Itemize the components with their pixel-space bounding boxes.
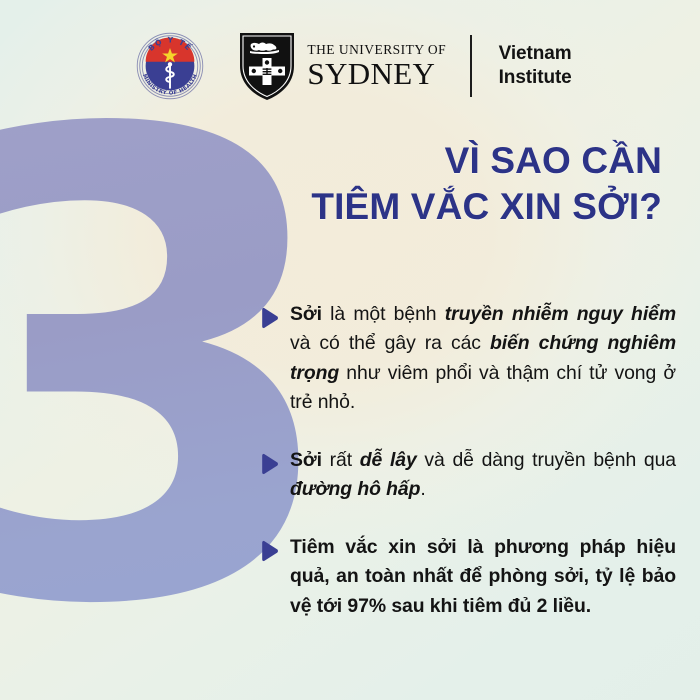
triangle-bullet-icon xyxy=(258,453,280,475)
usyd-line-2: SYDNEY xyxy=(307,58,446,89)
usyd-line-1: THE UNIVERSITY OF xyxy=(307,43,446,57)
triangle-bullet-icon xyxy=(258,307,280,329)
triangle-bullet-icon xyxy=(258,540,280,562)
vietnam-institute-wordmark: Vietnam Institute xyxy=(499,42,572,90)
logo-bar: BỘ Y TẾ MINISTRY OF HEALTH xyxy=(0,20,700,112)
bullet-text: Tiêm vắc xin sởi là phương pháp hiệu quả… xyxy=(290,533,676,621)
bullet-item: Tiêm vắc xin sởi là phương pháp hiệu quả… xyxy=(258,533,676,621)
partner-line-2: Institute xyxy=(499,66,572,90)
title-line-2: TIÊM VẮC XIN SỞI? xyxy=(242,184,662,230)
logo-divider xyxy=(470,35,472,97)
infographic-poster: 3 xyxy=(0,0,700,700)
university-of-sydney-wordmark: THE UNIVERSITY OF SYDNEY xyxy=(307,43,446,90)
title-line-1: VÌ SAO CẦN xyxy=(242,138,662,184)
ministry-of-health-logo-icon: BỘ Y TẾ MINISTRY OF HEALTH xyxy=(128,24,212,108)
page-title: VÌ SAO CẦN TIÊM VẮC XIN SỞI? xyxy=(242,138,662,229)
bullet-text: Sởi rất dễ lây và dễ dàng truyền bệnh qu… xyxy=(290,446,676,505)
bullet-text: Sởi là một bệnh truyền nhiễm nguy hiểm v… xyxy=(290,300,676,418)
university-of-sydney-lockup: THE UNIVERSITY OF SYDNEY Vietnam Institu… xyxy=(238,30,571,102)
partner-line-1: Vietnam xyxy=(499,42,572,66)
university-of-sydney-shield-icon xyxy=(238,30,296,102)
bullet-list: Sởi là một bệnh truyền nhiễm nguy hiểm v… xyxy=(258,300,676,621)
bullet-item: Sởi là một bệnh truyền nhiễm nguy hiểm v… xyxy=(258,300,676,418)
bullet-item: Sởi rất dễ lây và dễ dàng truyền bệnh qu… xyxy=(258,446,676,505)
